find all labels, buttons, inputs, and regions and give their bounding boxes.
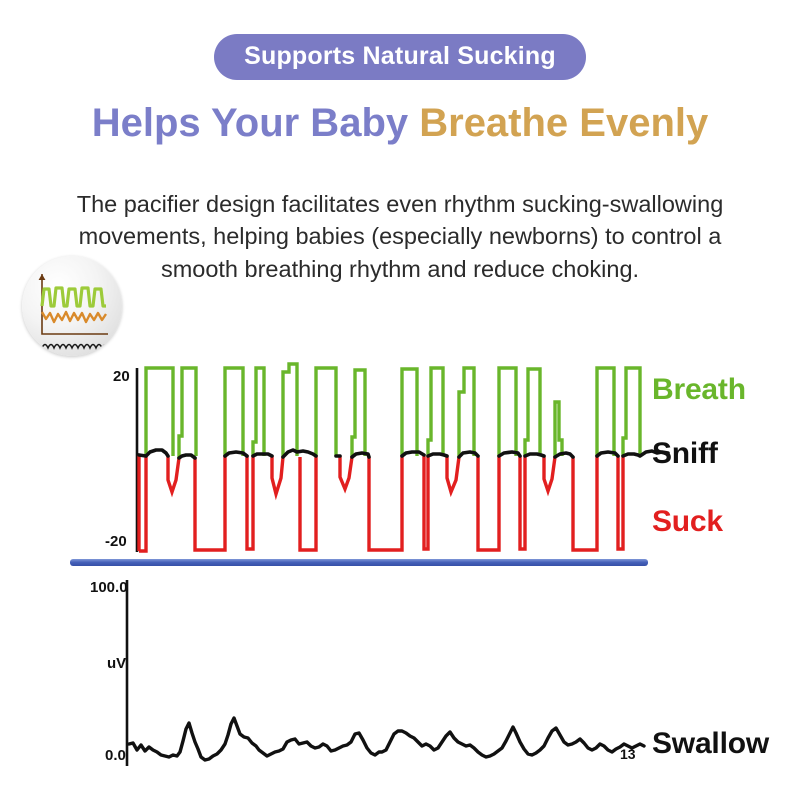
legend-label-swallow: Swallow — [652, 727, 769, 761]
body-paragraph: The pacifier design facilitates even rhy… — [40, 188, 760, 287]
swallow-chart-group — [127, 580, 644, 766]
axis-tick-bottom-min: 0.0 — [105, 747, 126, 764]
legend-label-breath: Breath — [652, 373, 746, 407]
supports-natural-sucking-badge: Supports Natural Sucking — [214, 34, 586, 80]
axis-tick-top-max: 20 — [113, 368, 130, 385]
legend-label-suck: Suck — [652, 505, 723, 539]
page-title: Helps Your Baby Breathe Evenly — [0, 101, 800, 145]
axis-tick-bottom-max: 100.0 — [90, 579, 128, 596]
promo-page: Supports Natural Sucking Helps Your Baby… — [0, 0, 800, 800]
airflow-chart-group — [137, 364, 668, 552]
headline-part-accent: Breathe Evenly — [419, 101, 708, 145]
section-divider — [70, 559, 648, 566]
axis-label-bottom-unit: uV — [107, 655, 126, 672]
axis-tick-top-min: -20 — [105, 533, 127, 550]
legend-label-sniff: Sniff — [652, 437, 718, 471]
badge-row: Supports Natural Sucking — [0, 34, 800, 80]
waveform-thumbnail-icon — [22, 256, 122, 356]
axis-tick-bottom-x: 13 — [620, 746, 636, 762]
headline-part-primary: Helps Your Baby — [92, 101, 420, 145]
